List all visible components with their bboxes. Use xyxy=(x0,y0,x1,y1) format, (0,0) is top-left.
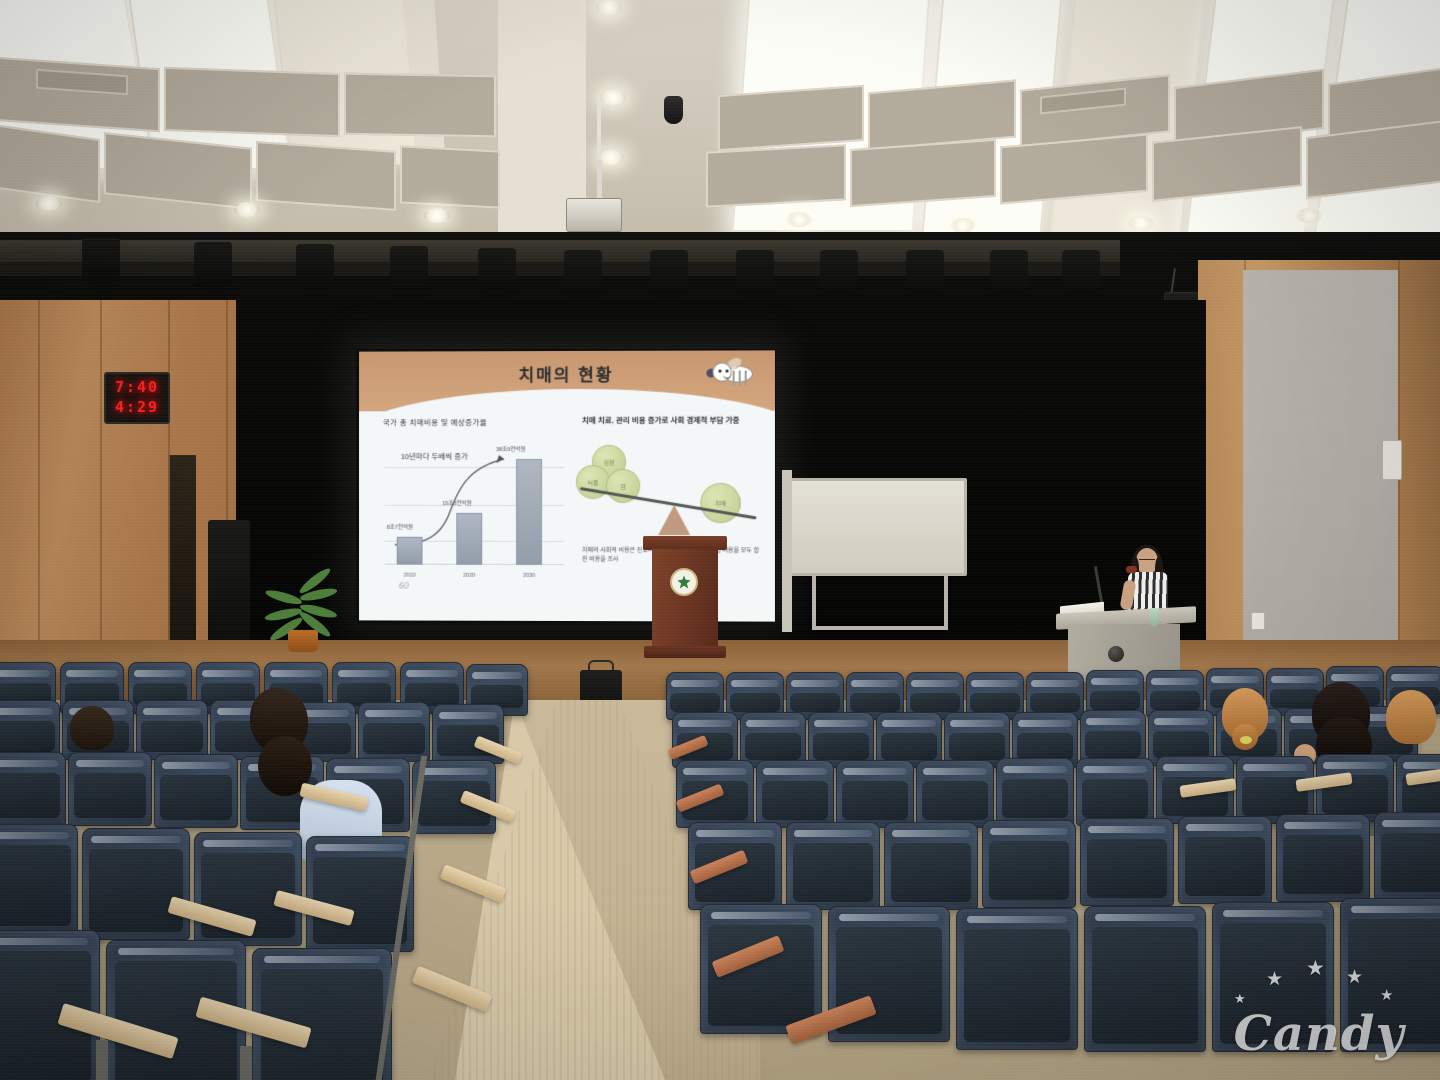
ceiling-acoustic-panel xyxy=(256,141,396,211)
seat[interactable] xyxy=(916,760,994,828)
stage-light xyxy=(564,250,602,294)
seat[interactable] xyxy=(82,828,190,940)
seat[interactable] xyxy=(1212,902,1334,1052)
attendee-head xyxy=(70,706,114,750)
bee-eye xyxy=(726,370,729,373)
projector-mount-rod xyxy=(597,96,601,166)
wall-seam xyxy=(100,300,102,670)
ceiling-downlight xyxy=(234,202,260,217)
stage-light xyxy=(990,250,1028,296)
ceiling-acoustic-panel xyxy=(344,73,496,138)
seat[interactable] xyxy=(154,754,238,828)
ceiling-acoustic-panel xyxy=(400,145,500,208)
seat[interactable] xyxy=(1374,812,1440,900)
ceiling-downlight xyxy=(786,212,812,227)
ceiling-acoustic-panel xyxy=(718,85,864,151)
seat[interactable] xyxy=(68,752,152,826)
chart-annotation: 10년마다 두배씩 증가 xyxy=(401,451,468,462)
seat[interactable] xyxy=(136,700,208,760)
stage-light xyxy=(194,242,232,286)
chart-annotation-line1: 10년마다 두배씩 증가 xyxy=(401,452,468,461)
seat[interactable] xyxy=(0,824,78,934)
ceiling-acoustic-panel xyxy=(0,56,160,133)
bee-stripe xyxy=(733,371,735,386)
seesaw-ball-label: 암 xyxy=(620,481,626,490)
stage-podium xyxy=(650,536,720,658)
right-wall-panel xyxy=(1243,270,1398,660)
seat[interactable] xyxy=(1080,818,1174,906)
ceiling xyxy=(0,0,1440,238)
seat[interactable] xyxy=(0,930,100,1080)
ceiling-downlight xyxy=(950,218,976,233)
dementia-cost-bar-chart: 10년마다 두배씩 증가 8조7천억원 15조3천억원 38조9천억원 2010… xyxy=(385,437,564,587)
attendee-hairband xyxy=(1240,736,1252,744)
seat[interactable] xyxy=(884,822,978,910)
podium-emblem xyxy=(670,568,698,596)
seat[interactable] xyxy=(358,702,430,762)
presenter-glasses-icon xyxy=(1139,559,1155,563)
plant-frond xyxy=(264,588,303,607)
seat[interactable] xyxy=(0,752,66,826)
attendee-head xyxy=(1386,690,1436,744)
chart-category-label: 2010 xyxy=(395,573,425,579)
seat[interactable] xyxy=(996,758,1074,826)
chart-bar xyxy=(397,537,423,565)
seat[interactable] xyxy=(1076,758,1154,826)
chart-bar xyxy=(456,513,482,565)
chart-value-label: 15조3천억원 xyxy=(442,499,471,507)
seat[interactable] xyxy=(786,822,880,910)
wall-plate xyxy=(1382,440,1402,480)
seat[interactable] xyxy=(982,820,1076,908)
auditorium-photo: 7:40 4:29 치매의 현황 xyxy=(0,0,1440,1080)
stage-light xyxy=(1062,250,1100,296)
chart-bar xyxy=(516,459,542,565)
lectern-knob xyxy=(1108,646,1124,662)
podium-top xyxy=(643,536,727,550)
seesaw-ball-label: 치매 xyxy=(715,499,726,508)
bee-eye xyxy=(719,370,722,373)
bee-stripe xyxy=(739,371,741,386)
security-camera-icon xyxy=(664,96,683,124)
handheld-microphone xyxy=(1126,566,1137,573)
seat[interactable] xyxy=(956,908,1078,1050)
ceiling-projector xyxy=(566,198,622,232)
stage-light xyxy=(820,250,858,296)
seat[interactable] xyxy=(1340,898,1440,1052)
seat[interactable] xyxy=(1178,816,1272,904)
slide-left-heading: 국가 총 치매비용 및 예상증가율 xyxy=(383,417,562,428)
seat[interactable] xyxy=(756,760,834,828)
stage-side-door[interactable] xyxy=(168,455,196,640)
stage-equipment xyxy=(208,520,250,655)
whiteboard xyxy=(784,478,967,576)
seat[interactable] xyxy=(0,700,60,760)
chart-category-label: 2020 xyxy=(454,573,484,579)
chart-value-label: 38조9천억원 xyxy=(496,445,525,453)
clover-icon xyxy=(678,576,691,589)
led-clock-display: 7:40 4:29 xyxy=(104,372,170,424)
slide-right-heading: 치매 치료, 관리 비용 증가로 사회 경제적 부담 가중 xyxy=(582,415,758,427)
whiteboard-leg xyxy=(944,574,948,630)
stage-light xyxy=(296,244,334,288)
ceiling-acoustic-panel xyxy=(164,67,340,137)
led-clock-line2: 4:29 xyxy=(106,398,168,416)
stage-light xyxy=(478,248,516,292)
seat-leg xyxy=(240,1046,252,1080)
stage-light xyxy=(906,250,944,296)
ceiling-downlight xyxy=(596,0,622,15)
light-switch[interactable] xyxy=(1251,612,1265,630)
stage-light xyxy=(82,238,120,282)
slide-source-logo: 60 xyxy=(387,581,421,591)
bee-mascot-icon xyxy=(706,362,752,386)
seat[interactable] xyxy=(432,704,504,764)
stage-light xyxy=(736,250,774,294)
plant-pot xyxy=(288,630,318,652)
ceiling-downlight xyxy=(36,196,62,211)
seat[interactable] xyxy=(252,948,392,1080)
seat[interactable] xyxy=(836,760,914,828)
ceiling-acoustic-panel xyxy=(850,139,996,207)
led-clock-line1: 7:40 xyxy=(106,378,168,396)
bee-stripe xyxy=(745,371,747,386)
ceiling-downlight xyxy=(1296,208,1322,223)
ceiling-downlight xyxy=(1128,216,1154,231)
stage-light xyxy=(650,250,688,294)
bee-head xyxy=(712,363,731,382)
chart-value-label: 8조7천억원 xyxy=(387,523,413,531)
seat[interactable] xyxy=(1276,814,1370,902)
ceiling-acoustic-panel xyxy=(706,144,846,207)
seesaw-ball-label: 심장 xyxy=(603,457,614,466)
podium-base xyxy=(644,646,726,658)
seat-leg xyxy=(96,1040,108,1080)
seesaw-fulcrum xyxy=(658,505,690,535)
podium-body xyxy=(652,549,718,649)
seat[interactable] xyxy=(1084,906,1206,1052)
seesaw-ball: 치매 xyxy=(700,483,740,523)
stage-light xyxy=(390,246,428,290)
whiteboard-crossbar xyxy=(812,626,948,630)
whiteboard-side-panel xyxy=(782,470,792,632)
lighting-truss-lower xyxy=(0,262,1120,276)
whiteboard-leg xyxy=(812,574,816,630)
ceiling-downlight xyxy=(600,90,626,105)
stage-plant xyxy=(266,578,342,656)
chart-category-label: 2030 xyxy=(514,573,544,579)
projector-mount-rod xyxy=(597,160,602,202)
ceiling-downlight xyxy=(424,208,450,223)
wall-seam xyxy=(38,300,40,670)
water-bottle xyxy=(1150,608,1158,626)
seesaw-ball-label: 뇌졸 xyxy=(587,477,598,486)
